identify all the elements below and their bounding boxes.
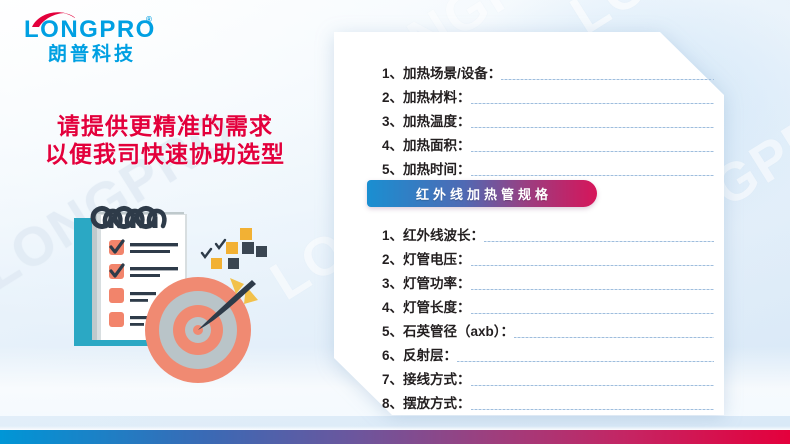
list-item-index: 3、 (382, 110, 403, 132)
list-item[interactable]: 1、 红外线波长： (382, 222, 714, 246)
list-item-index: 4、 (382, 296, 403, 318)
logo-registered-icon: ® (146, 15, 152, 24)
card-content: 1、 加热场景/设备： 2、 加热材料： 3、 加热温度： 4、 加热面积： (334, 32, 724, 415)
list-item[interactable]: 6、 反射层： (382, 342, 714, 366)
list-item[interactable]: 1、 加热场景/设备： (382, 60, 714, 84)
answer-blank-line[interactable] (471, 313, 714, 314)
requirement-form-card: 1、 加热场景/设备： 2、 加热材料： 3、 加热温度： 4、 加热面积： (334, 32, 724, 415)
list-item[interactable]: 4、 加热面积： (382, 132, 714, 156)
list-item[interactable]: 8、 摆放方式： (382, 390, 714, 414)
list-item[interactable]: 3、 加热温度： (382, 108, 714, 132)
list-item[interactable]: 3、 灯管功率： (382, 270, 714, 294)
list-item-label: 红外线波长： (403, 224, 484, 246)
list-item-label: 石英管径（axb）： (403, 320, 514, 342)
answer-blank-line[interactable] (501, 79, 714, 80)
list-item[interactable]: 5、 加热时间： (382, 156, 714, 180)
heating-requirements-list: 1、 加热场景/设备： 2、 加热材料： 3、 加热温度： 4、 加热面积： (382, 60, 714, 180)
answer-blank-line[interactable] (471, 103, 714, 104)
list-item-label: 灯管电压： (403, 248, 471, 270)
list-item-label: 反射层： (403, 344, 457, 366)
list-item-label: 加热面积： (403, 134, 471, 156)
brand-logo[interactable]: LONGPRO ® 朗普科技 (22, 12, 162, 60)
list-item-index: 5、 (382, 320, 403, 342)
floating-squares-icon (202, 228, 267, 269)
answer-blank-line[interactable] (457, 361, 714, 362)
tube-spec-list: 1、 红外线波长： 2、 灯管电压： 3、 灯管功率： 4、 灯管长度： (382, 222, 714, 414)
list-item-label: 灯管功率： (403, 272, 471, 294)
list-item[interactable]: 7、 接线方式： (382, 366, 714, 390)
answer-blank-line[interactable] (471, 385, 714, 386)
answer-blank-line[interactable] (471, 409, 714, 410)
list-item-index: 4、 (382, 134, 403, 156)
list-item-index: 3、 (382, 272, 403, 294)
answer-blank-line[interactable] (471, 265, 714, 266)
list-item[interactable]: 4、 灯管长度： (382, 294, 714, 318)
list-item[interactable]: 5、 石英管径（axb）： (382, 318, 714, 342)
list-item-index: 8、 (382, 392, 403, 414)
section-banner-label: 红外线加热管规格 (412, 184, 552, 203)
logo-chinese-name: 朗普科技 (48, 39, 136, 66)
section-banner: 红外线加热管规格 (367, 180, 597, 207)
headline-line-2: 以便我司快速协助选型 (0, 140, 330, 168)
list-item-label: 加热温度： (403, 110, 471, 132)
answer-blank-line[interactable] (471, 127, 714, 128)
checklist-target-illustration (70, 200, 310, 400)
headline-line-1: 请提供更精准的需求 (0, 112, 330, 140)
answer-blank-line[interactable] (471, 289, 714, 290)
list-item-index: 2、 (382, 86, 403, 108)
list-item-index: 2、 (382, 248, 403, 270)
answer-blank-line[interactable] (514, 337, 714, 338)
answer-blank-line[interactable] (484, 241, 714, 242)
list-item-index: 5、 (382, 158, 403, 180)
footer-gradient-bar (0, 430, 790, 444)
list-item[interactable]: 2、 加热材料： (382, 84, 714, 108)
list-item-index: 6、 (382, 344, 403, 366)
list-item-label: 加热材料： (403, 86, 471, 108)
list-item[interactable]: 2、 灯管电压： (382, 246, 714, 270)
list-item-label: 加热时间： (403, 158, 471, 180)
list-item-label: 灯管长度： (403, 296, 471, 318)
list-item-index: 1、 (382, 224, 403, 246)
list-item-label: 摆放方式： (403, 392, 471, 414)
list-item-label: 加热场景/设备： (403, 62, 501, 84)
list-item-index: 1、 (382, 62, 403, 84)
list-item-index: 7、 (382, 368, 403, 390)
page-title: 请提供更精准的需求 以便我司快速协助选型 (0, 112, 330, 168)
slide-canvas: LONGPRO LONGPRO LONGPRO LONGPRO LONGPRO … (0, 0, 790, 444)
list-item-label: 接线方式： (403, 368, 471, 390)
answer-blank-line[interactable] (471, 151, 714, 152)
answer-blank-line[interactable] (471, 175, 714, 176)
